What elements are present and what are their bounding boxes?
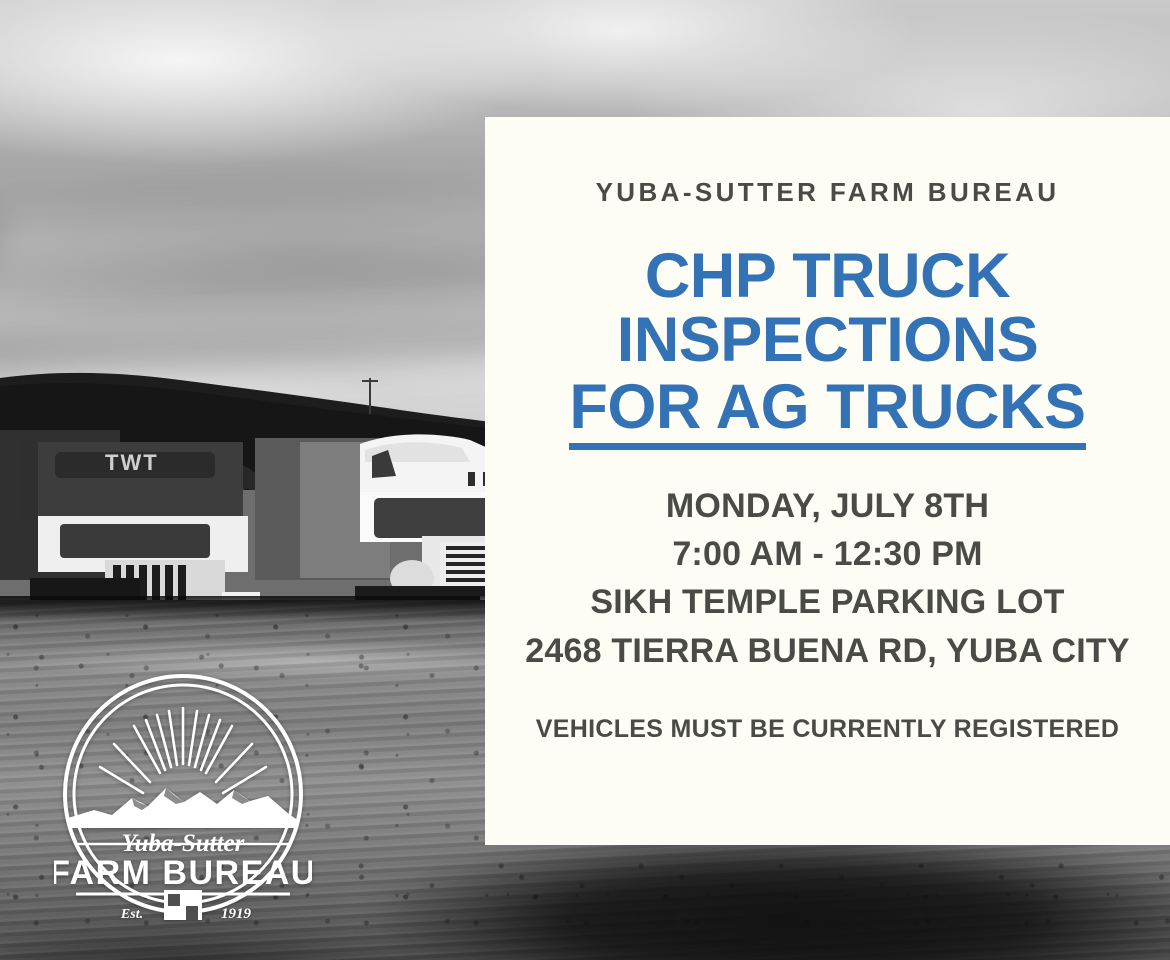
- svg-text:Est.: Est.: [120, 907, 143, 920]
- registration-requirement-note: VEHICLES MUST BE CURRENTLY REGISTERED: [505, 715, 1150, 744]
- svg-text:TWT: TWT: [105, 450, 159, 475]
- info-panel: YUBA-SUTTER FARM BUREAU CHP TRUCK INSPEC…: [485, 117, 1170, 845]
- headline-line-3: FOR AG TRUCKS: [569, 375, 1085, 450]
- svg-text:1919: 1919: [221, 906, 252, 920]
- event-date: MONDAY, JULY 8TH: [505, 482, 1150, 530]
- yuba-sutter-farm-bureau-logo: Yuba-Sutter FARM BUREAU Est. 1919: [54, 668, 312, 920]
- event-headline: CHP TRUCK INSPECTIONS FOR AG TRUCKS: [505, 244, 1150, 450]
- event-details: MONDAY, JULY 8TH 7:00 AM - 12:30 PM SIKH…: [505, 482, 1150, 675]
- organization-name: YUBA-SUTTER FARM BUREAU: [505, 177, 1150, 208]
- svg-text:Yuba-Sutter: Yuba-Sutter: [122, 830, 245, 857]
- event-address: 2468 TIERRA BUENA RD, YUBA CITY: [505, 627, 1150, 675]
- event-venue: SIKH TEMPLE PARKING LOT: [505, 578, 1150, 626]
- event-flyer: TWT: [0, 0, 1170, 960]
- svg-text:FARM BUREAU: FARM BUREAU: [54, 854, 312, 892]
- event-time: 7:00 AM - 12:30 PM: [505, 530, 1150, 578]
- headline-line-1: CHP TRUCK: [505, 244, 1150, 308]
- headline-line-2: INSPECTIONS: [505, 308, 1150, 372]
